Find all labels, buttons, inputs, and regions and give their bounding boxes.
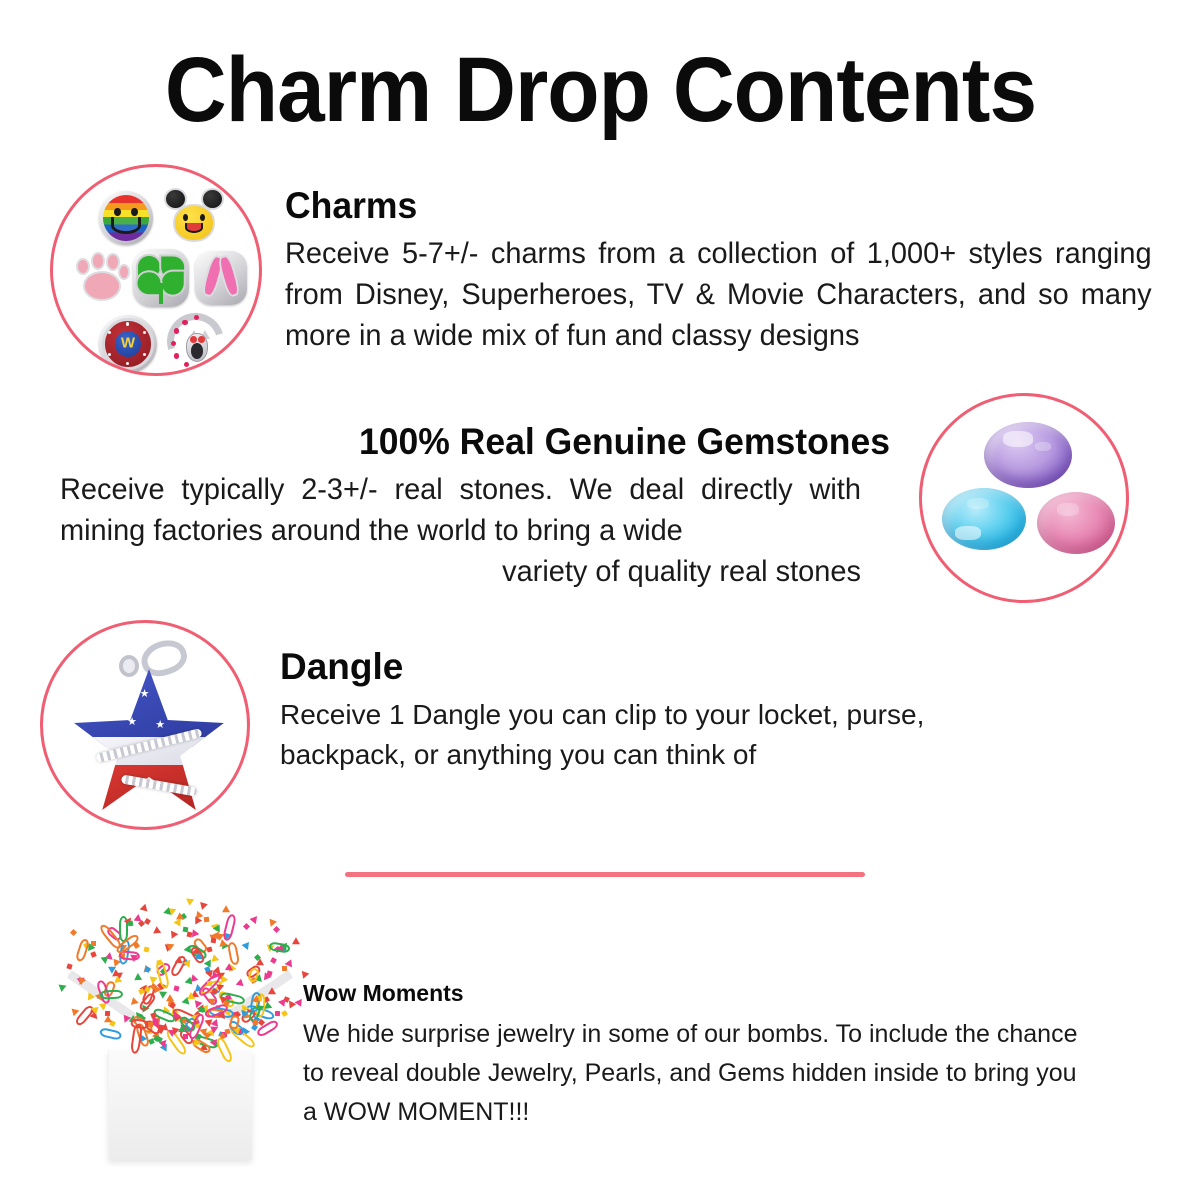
gemstones-text-block: 100% Real Genuine Gemstones Receive typi… <box>60 420 890 592</box>
confetti-piece <box>134 972 142 980</box>
confetti-gift-box <box>60 885 300 1175</box>
confetti-piece <box>270 957 277 964</box>
clover-stem <box>159 283 162 304</box>
wow-heading: Wow Moments <box>303 978 1093 1008</box>
confetti-piece <box>187 992 195 999</box>
gemstones-body-line-1: Receive typically 2-3+/- real stones. We… <box>60 473 861 506</box>
confetti-piece <box>281 1010 288 1017</box>
confetti-piece <box>243 922 250 929</box>
gem-facet-highlight <box>955 526 980 540</box>
confetti-piece <box>121 1015 131 1025</box>
ww-stone <box>126 322 129 325</box>
star-blue-field: ★ ★ ★ ★ ★ <box>71 669 227 747</box>
confetti-piece <box>127 921 133 927</box>
ww-outer-ring: W <box>102 318 154 370</box>
mickey-eye-left <box>183 214 188 221</box>
charms-heading: Charms <box>285 184 1147 228</box>
star-red-stripe <box>71 765 227 819</box>
confetti-piece <box>168 928 179 938</box>
ww-stone <box>108 331 111 334</box>
flag-star: ★ <box>112 702 122 713</box>
confetti-piece <box>100 956 109 964</box>
confetti-piece <box>198 902 208 911</box>
confetti-piece <box>134 914 143 922</box>
eye-right <box>131 208 138 216</box>
wonder-woman-logo-charm: W <box>99 315 157 373</box>
confetti-piece <box>144 946 150 952</box>
page-title: Charm Drop Contents <box>42 44 1159 136</box>
confetti-piece <box>253 1019 259 1025</box>
gemstones-image-circle <box>919 393 1129 603</box>
wow-body: We hide surprise jewelry in some of our … <box>303 1015 1093 1132</box>
gem-facet-highlight <box>967 498 989 509</box>
owl-eye-left <box>190 336 197 343</box>
confetti-piece <box>174 956 183 964</box>
section-divider <box>345 872 865 877</box>
gemstones-body-line-3: variety of quality real stones <box>60 551 861 592</box>
paw-main-pad <box>83 271 121 301</box>
mickey-face <box>173 204 215 242</box>
confetti-piece <box>210 1019 218 1028</box>
confetti-piece <box>204 916 209 921</box>
gemstones-heading: 100% Real Genuine Gemstones <box>93 420 890 464</box>
pink-rose-quartz-gemstone <box>1037 492 1115 554</box>
flag-star: ★ <box>165 703 175 714</box>
confetti-piece <box>150 1012 156 1018</box>
confetti-piece <box>235 979 244 989</box>
confetti-piece <box>182 926 188 932</box>
confetti-piece <box>70 929 77 936</box>
moon-stone <box>174 328 180 334</box>
moon-stone <box>174 353 180 359</box>
confetti-piece <box>129 997 138 1006</box>
confetti-piece <box>249 915 257 924</box>
confetti-piece <box>222 913 237 941</box>
confetti-piece <box>174 985 180 991</box>
confetti-piece <box>133 942 140 949</box>
gemstones-body-line-2: mining factories around the world to bri… <box>60 514 683 547</box>
dangle-image-circle: ★ ★ ★ ★ ★ <box>40 620 250 830</box>
confetti-piece <box>99 1027 122 1041</box>
confetti-piece <box>91 941 96 946</box>
ww-stone <box>143 353 146 356</box>
mickey-mouth <box>185 223 203 234</box>
infographic-page: Charm Drop Contents <box>0 0 1201 1201</box>
eye-left <box>114 208 121 216</box>
flag-star: ★ <box>127 717 137 728</box>
confetti-piece <box>266 970 272 976</box>
rainbow-smiley-charm <box>99 191 153 245</box>
confetti-piece <box>225 1029 231 1035</box>
confetti-piece <box>183 960 193 970</box>
confetti-piece <box>148 1021 153 1026</box>
owl-eye-right <box>198 336 205 343</box>
pink-paw-print-charm <box>71 251 131 305</box>
confetti-piece <box>183 1034 188 1039</box>
purple-amethyst-gemstone <box>984 422 1072 488</box>
moon-stone <box>182 320 188 326</box>
confetti-piece <box>282 966 287 971</box>
confetti-piece <box>166 943 175 951</box>
confetti-piece <box>241 941 249 950</box>
confetti-piece <box>100 990 123 1000</box>
dangle-body: Receive 1 Dangle you can clip to your lo… <box>280 695 980 775</box>
paw-toe-4 <box>118 264 130 280</box>
gemstones-body: Receive typically 2-3+/- real stones. We… <box>60 469 861 592</box>
rainbow-face <box>103 195 149 241</box>
confetti-piece <box>268 987 278 997</box>
dangle-heading: Dangle <box>280 645 980 689</box>
paw-toe-1 <box>76 258 90 275</box>
confetti-piece <box>273 926 280 933</box>
mickey-eye-right <box>200 214 205 221</box>
flag-star: ★ <box>140 689 150 700</box>
wow-text-block: Wow Moments We hide surprise jewelry in … <box>303 978 1093 1132</box>
clover-leaf-4 <box>135 270 162 296</box>
confetti-piece <box>90 951 96 957</box>
flag-star: ★ <box>155 720 165 731</box>
paw-toe-2 <box>91 252 105 270</box>
gem-facet-highlight <box>1003 431 1033 447</box>
confetti-piece <box>66 964 72 970</box>
smile-mouth <box>111 217 141 234</box>
gem-facet-highlight <box>1057 503 1079 515</box>
dangle-text-block: Dangle Receive 1 Dangle you can clip to … <box>280 645 980 775</box>
charms-body: Receive 5-7+/- charms from a collection … <box>285 233 1152 356</box>
confetti-piece <box>173 918 180 926</box>
blue-topaz-gemstone <box>942 488 1026 550</box>
open-white-gift-box <box>108 1050 252 1160</box>
confetti-piece <box>207 981 212 986</box>
confetti-piece <box>183 946 191 955</box>
american-flag-star-dangle: ★ ★ ★ ★ ★ <box>71 669 227 819</box>
charms-text-block: Charms Receive 5-7+/- charms from a coll… <box>285 184 1183 356</box>
charms-image-circle: W <box>50 164 262 376</box>
confetti-piece <box>275 1011 280 1016</box>
ww-stone <box>143 331 146 334</box>
green-four-leaf-clover-charm <box>133 249 189 307</box>
confetti-piece <box>57 985 66 993</box>
confetti-piece <box>207 947 213 953</box>
pink-ribbon-charm <box>195 251 247 305</box>
owl-on-crescent-moon-charm <box>165 311 227 373</box>
gem-facet-highlight <box>1035 442 1051 451</box>
confetti-piece <box>151 926 161 937</box>
ww-emblem: W <box>121 335 135 352</box>
confetti-piece <box>184 895 194 906</box>
confetti-piece <box>139 904 148 914</box>
confetti-piece <box>195 951 204 959</box>
ww-stone <box>126 362 129 365</box>
ww-stone <box>108 353 111 356</box>
confetti-piece <box>292 937 302 947</box>
mickey-mouse-charm <box>165 189 223 245</box>
